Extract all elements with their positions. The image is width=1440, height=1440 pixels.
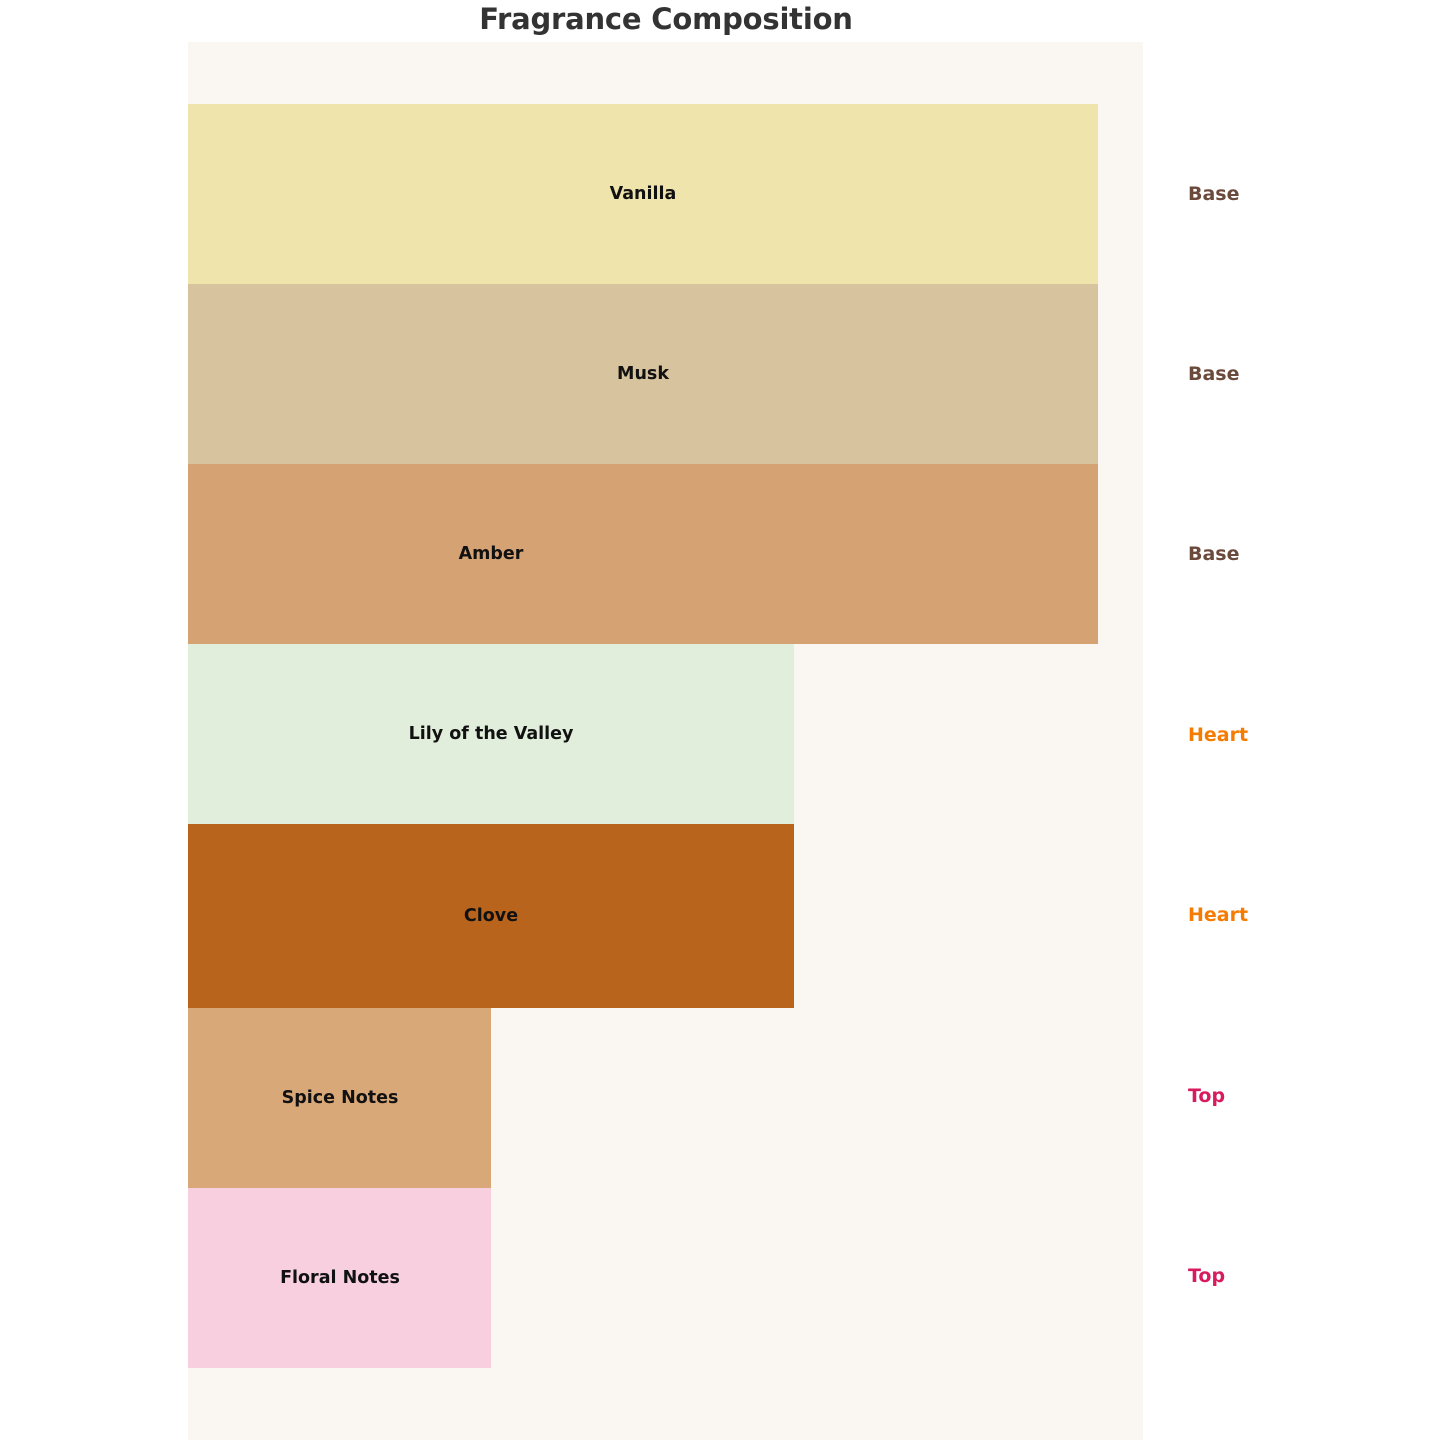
bar-label: Amber — [459, 544, 524, 564]
stage-label: Base — [1188, 543, 1240, 565]
bar[interactable] — [188, 464, 1098, 644]
stage-label: Heart — [1188, 724, 1248, 746]
stage-label: Base — [1188, 183, 1240, 205]
stage-label: Top — [1188, 1085, 1225, 1107]
stage-label: Heart — [1188, 904, 1248, 926]
bar-label: Clove — [464, 906, 518, 926]
chart-title: Fragrance Composition — [0, 2, 1332, 36]
plot-area: VanillaMuskAmberLily of the ValleyCloveS… — [188, 42, 1143, 1440]
bar-label: Lily of the Valley — [409, 724, 574, 744]
chart-root: Fragrance Composition VanillaMuskAmberLi… — [0, 0, 1440, 1440]
bar-label: Spice Notes — [282, 1088, 399, 1108]
stage-label: Top — [1188, 1265, 1225, 1287]
bar-layer: VanillaMuskAmberLily of the ValleyCloveS… — [188, 42, 1143, 1440]
stage-label: Base — [1188, 363, 1240, 385]
bar-label: Vanilla — [610, 184, 677, 204]
bar-label: Musk — [617, 364, 669, 384]
bar-label: Floral Notes — [280, 1268, 400, 1288]
